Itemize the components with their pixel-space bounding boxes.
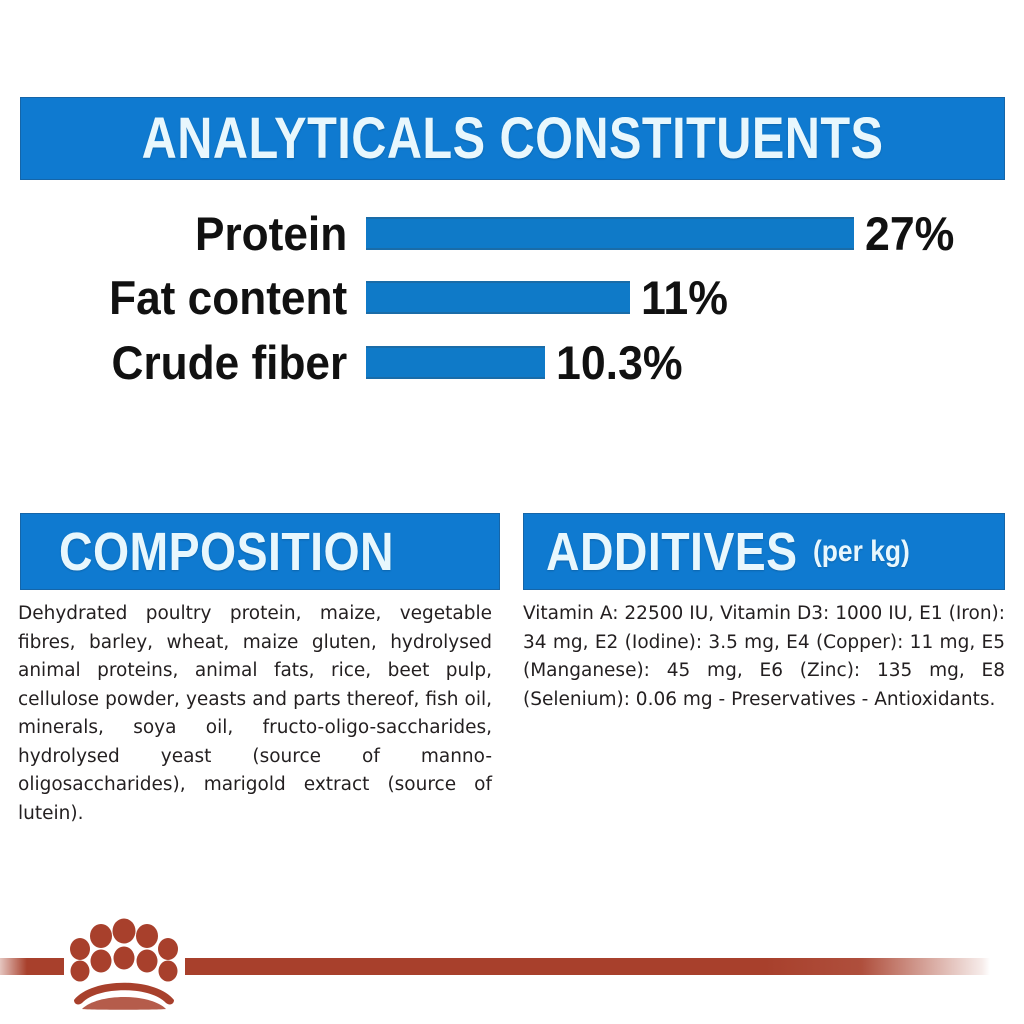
additives-subtitle: (per kg) (813, 535, 910, 569)
chart-bar-protein (366, 217, 854, 250)
chart-row: Crude fiber 10.3% (0, 334, 1024, 390)
nutrition-panel: ANALYTICALS CONSTITUENTS Protein 27% Fat… (0, 0, 1024, 1024)
composition-banner: COMPOSITION (20, 513, 500, 590)
analyticals-constituents-banner: ANALYTICALS CONSTITUENTS (20, 97, 1005, 180)
chart-value-protein: 27% (865, 210, 954, 257)
additives-title: ADDITIVES (546, 521, 798, 583)
composition-text: Dehydrated poultry protein, maize, veget… (18, 600, 492, 828)
chart-label-protein: Protein (22, 210, 366, 257)
royal-canin-crown-icon (58, 914, 190, 1010)
chart-bar-crude-fiber (366, 346, 545, 379)
chart-value-fat-content: 11% (641, 274, 728, 321)
chart-row: Fat content 11% (0, 269, 1024, 325)
chart-row: Protein 27% (0, 205, 1024, 261)
analyticals-bar-chart: Protein 27% Fat content 11% Crude fiber … (0, 205, 1024, 390)
footer-divider (0, 900, 1024, 1024)
additives-banner: ADDITIVES (per kg) (523, 513, 1005, 590)
divider-rule-right (185, 958, 990, 975)
chart-bar-fat-content (366, 281, 630, 314)
analyticals-constituents-title: ANALYTICALS CONSTITUENTS (142, 105, 884, 172)
chart-value-crude-fiber: 10.3% (556, 339, 683, 386)
divider-rule-left (0, 958, 64, 975)
composition-title: COMPOSITION (59, 521, 394, 583)
chart-label-crude-fiber: Crude fiber (22, 339, 366, 386)
additives-text: Vitamin A: 22500 IU, Vitamin D3: 1000 IU… (523, 600, 1005, 714)
chart-label-fat-content: Fat content (22, 274, 366, 321)
